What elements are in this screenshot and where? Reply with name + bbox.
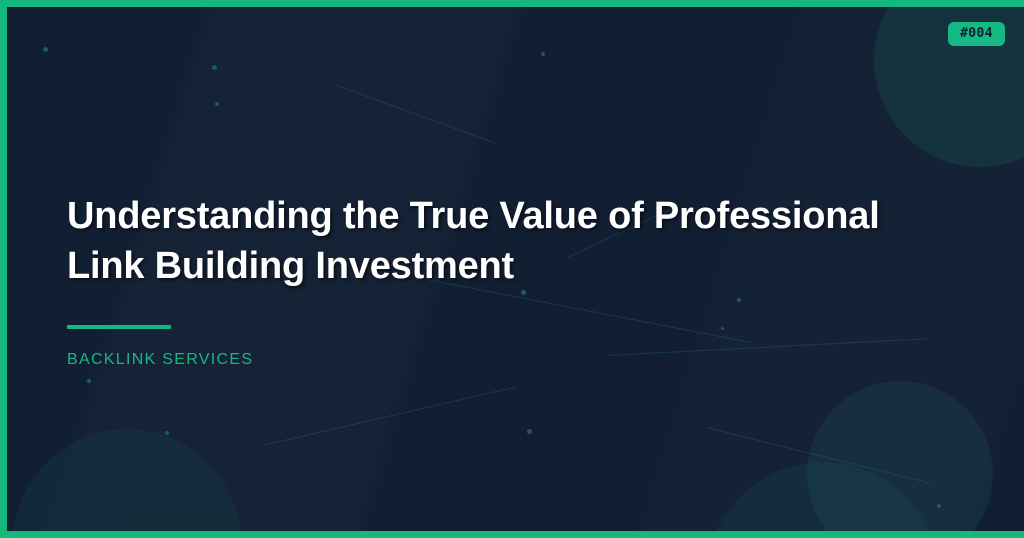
decorative-dot bbox=[43, 47, 48, 52]
decorative-dot bbox=[165, 431, 169, 435]
slide-content: Understanding the True Value of Professi… bbox=[67, 191, 967, 368]
slide-frame: #004 Understanding the True Value of Pro… bbox=[0, 0, 1024, 538]
decorative-circle-bottom-right-upper bbox=[807, 381, 993, 531]
decorative-dot bbox=[527, 429, 532, 434]
decorative-circle-bottom-left bbox=[13, 429, 241, 531]
decorative-circle-bottom-right-lower bbox=[707, 462, 939, 531]
decorative-dot bbox=[215, 102, 219, 106]
decorative-hairline bbox=[337, 85, 497, 144]
decorative-dot bbox=[212, 65, 217, 70]
decorative-dot bbox=[87, 379, 91, 383]
category-label: BACKLINK SERVICES bbox=[67, 352, 967, 368]
decorative-hairline bbox=[262, 387, 516, 446]
decorative-dot bbox=[541, 52, 545, 56]
slide-canvas: #004 Understanding the True Value of Pro… bbox=[7, 7, 1024, 531]
slide-number-badge: #004 bbox=[948, 22, 1005, 46]
decorative-hairline bbox=[707, 427, 930, 484]
accent-rule bbox=[67, 325, 171, 329]
decorative-dot bbox=[937, 504, 941, 508]
page-title: Understanding the True Value of Professi… bbox=[67, 191, 947, 291]
